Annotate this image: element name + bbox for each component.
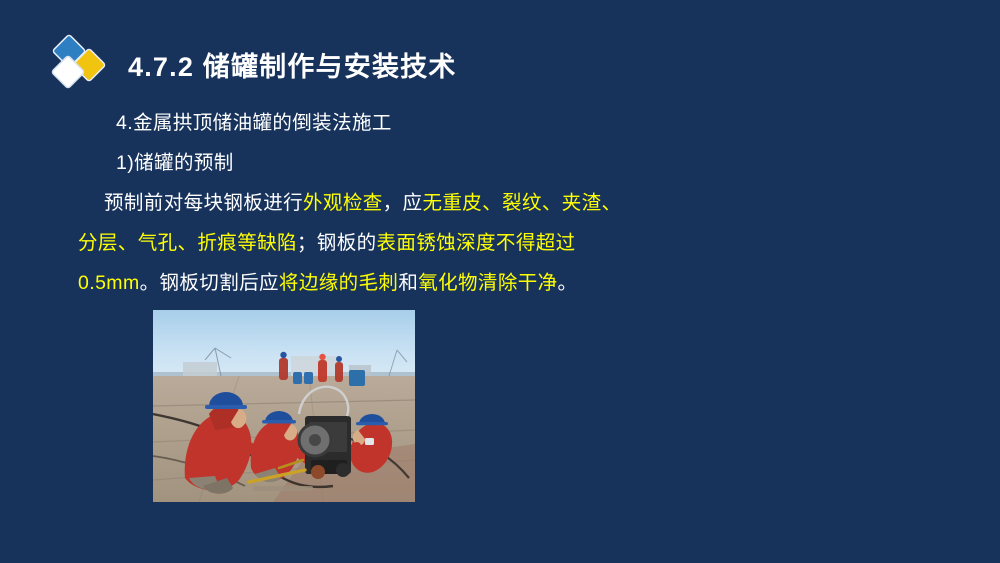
- text-segment: 氧化物清除干净: [418, 272, 557, 294]
- text-line-para-3: 0.5mm。钢板切割后应将边缘的毛刺和氧化物清除干净。: [78, 263, 958, 303]
- text-segment: 表面锈蚀深度不得超过: [377, 232, 576, 254]
- text-segment: ，应: [383, 192, 423, 214]
- text-segment: 将边缘的毛刺: [279, 272, 398, 294]
- text-line-heading-4: 4.金属拱顶储油罐的倒装法施工: [78, 103, 958, 143]
- text-segment: 0.5mm: [78, 272, 140, 294]
- text-segment: 。: [558, 272, 578, 294]
- page-title: 4.7.2 储罐制作与安装技术: [128, 45, 457, 84]
- text-segment: 无重皮、裂纹、夹渣、: [422, 192, 621, 214]
- text-segment: 和: [398, 272, 418, 294]
- slide-canvas: 4.7.2 储罐制作与安装技术 4.金属拱顶储油罐的倒装法施工 1)储罐的预制 …: [0, 0, 1000, 563]
- slide-header: 4.7.2 储罐制作与安装技术: [52, 36, 457, 92]
- text-line-para-1: 预制前对每块钢板进行外观检查，应无重皮、裂纹、夹渣、: [78, 183, 958, 223]
- text-segment: 分层、气孔、折痕等缺陷: [78, 232, 297, 254]
- construction-workers-photo: [153, 310, 415, 502]
- text-segment: 4.金属拱顶储油罐的倒装法施工: [116, 112, 392, 134]
- text-segment: 外观检查: [303, 192, 383, 214]
- text-segment: ；钢板的: [297, 232, 377, 254]
- text-segment: 1)储罐的预制: [116, 152, 234, 174]
- content-body: 4.金属拱顶储油罐的倒装法施工 1)储罐的预制 预制前对每块钢板进行外观检查，应…: [78, 103, 958, 303]
- text-segment: 预制前对每块钢板进行: [104, 192, 303, 214]
- text-line-para-2: 分层、气孔、折痕等缺陷；钢板的表面锈蚀深度不得超过: [78, 223, 958, 263]
- photo-illustration: [153, 310, 415, 502]
- text-segment: 。钢板切割后应: [140, 272, 279, 294]
- diamond-logo: [52, 37, 114, 91]
- text-line-heading-1: 1)储罐的预制: [78, 143, 958, 183]
